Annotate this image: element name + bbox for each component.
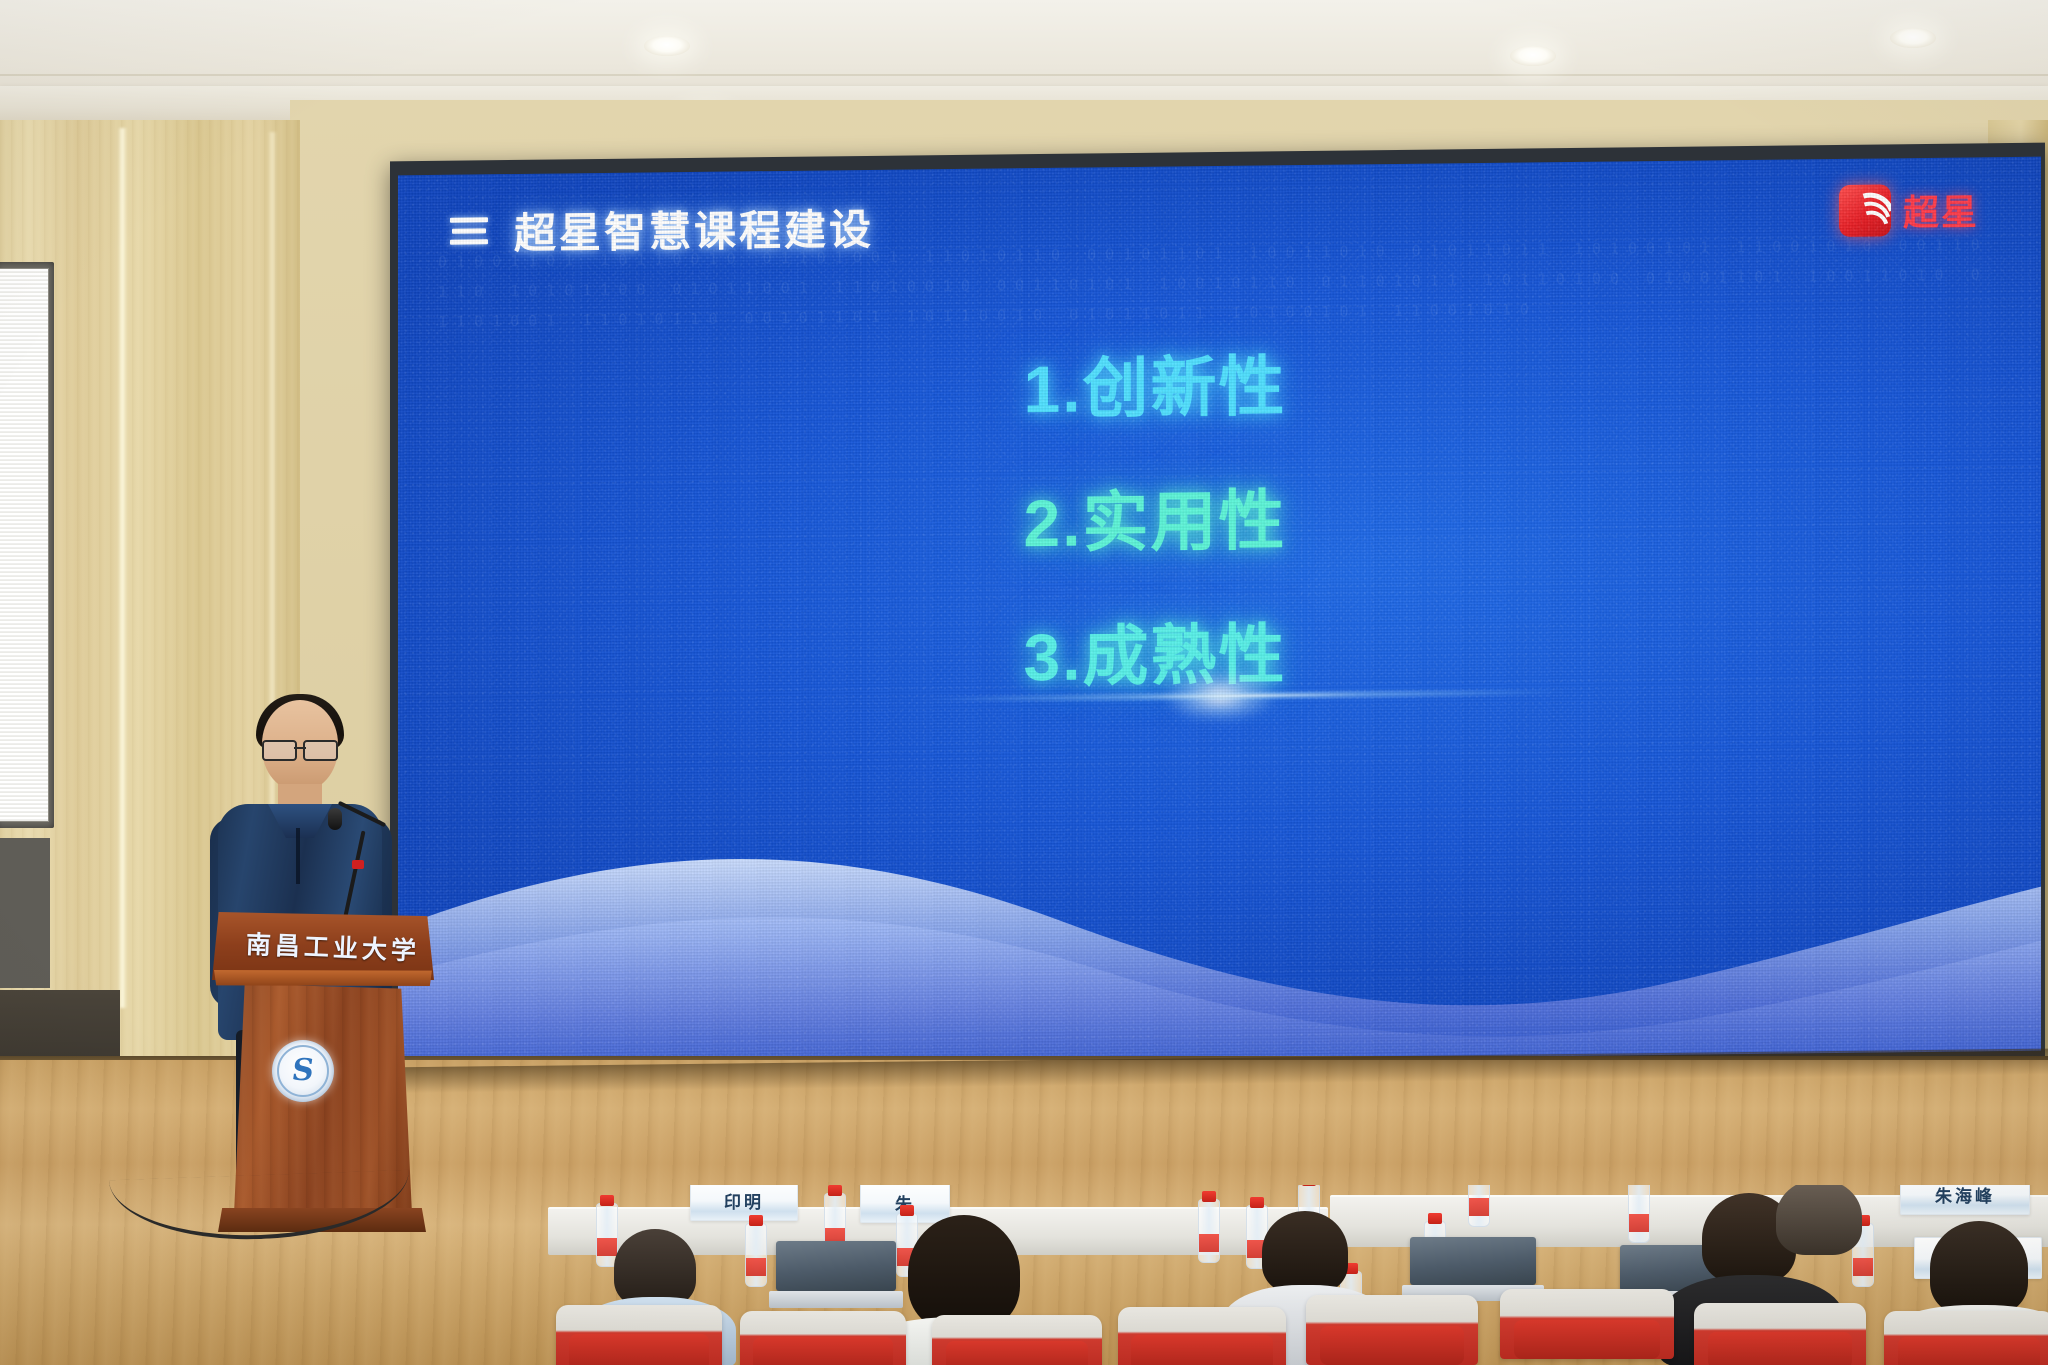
podium-institution-name: 南昌工业大学 — [245, 925, 406, 967]
list-item: 2.实用性 — [1024, 466, 1416, 566]
podium-front-band — [214, 970, 432, 986]
auditorium-chair-icon[interactable] — [1118, 1307, 1286, 1365]
eyeglasses-icon — [260, 740, 340, 758]
water-bottle-icon — [1628, 1185, 1650, 1243]
water-bottle-icon — [745, 1223, 767, 1287]
laptop-icon — [776, 1241, 896, 1291]
name-card: 印明 — [690, 1185, 798, 1221]
led-screen[interactable]: 01001101 10110010 01101001 11010110 0010… — [398, 157, 2041, 1070]
gooseneck-microphone-icon — [328, 808, 342, 830]
list-item — [1262, 1211, 1348, 1293]
crest-glyph: S — [290, 1056, 316, 1086]
auditorium-chair-icon[interactable] — [1884, 1311, 2048, 1365]
name-card-text: 印明 — [724, 1188, 764, 1213]
list-item — [1776, 1185, 1862, 1255]
slide-header: 超星智慧课程建设 — [450, 196, 874, 262]
brand-name: 超星 — [1903, 183, 1979, 236]
wall-recess-lower — [0, 838, 50, 988]
name-card-text: 朱海峰 — [1935, 1185, 1995, 1207]
presenter-shirt-placket — [296, 828, 300, 884]
auditorium-chair-icon[interactable] — [1500, 1289, 1674, 1359]
auditorium-chair-icon[interactable] — [1306, 1295, 1478, 1365]
wave-ribbon-graphic — [398, 791, 2041, 1070]
slide-bullet-list: 1.创新性 2.实用性 3.成熟性 — [398, 325, 2041, 708]
list-item — [614, 1229, 696, 1307]
recessed-downlight-icon — [1890, 28, 1936, 48]
hamburger-icon[interactable] — [450, 217, 488, 244]
laptop-icon — [1410, 1237, 1536, 1285]
water-bottle-icon — [1198, 1199, 1220, 1263]
list-item — [908, 1215, 1020, 1331]
recessed-downlight-icon — [1510, 46, 1556, 66]
auditorium-chair-icon[interactable] — [1694, 1303, 1866, 1365]
list-item: 1.创新性 — [1024, 332, 1416, 432]
water-bottle-icon — [1468, 1185, 1490, 1227]
brand-logo: 超星 — [1839, 183, 1979, 237]
auditorium-chair-icon[interactable] — [740, 1311, 906, 1365]
university-crest-icon: S — [272, 1040, 334, 1102]
audience-area: 印明 朱 朱海峰 高翼 — [0, 1185, 2048, 1365]
list-item — [1930, 1221, 2028, 1315]
speaker-grille-panel — [0, 262, 54, 828]
slide-title: 超星智慧课程建设 — [514, 196, 874, 261]
recessed-downlight-icon — [644, 36, 690, 56]
auditorium-chair-icon[interactable] — [556, 1305, 722, 1365]
name-card: 朱海峰 — [1900, 1185, 2030, 1215]
chaoxing-swoosh-logo — [1839, 184, 1891, 237]
auditorium-chair-icon[interactable] — [932, 1315, 1102, 1365]
microphone-base-clip — [352, 860, 364, 869]
wall-light-strip — [118, 128, 127, 1008]
presentation-photo-scene: 01001101 10110010 01101001 11010110 0010… — [0, 0, 2048, 1365]
